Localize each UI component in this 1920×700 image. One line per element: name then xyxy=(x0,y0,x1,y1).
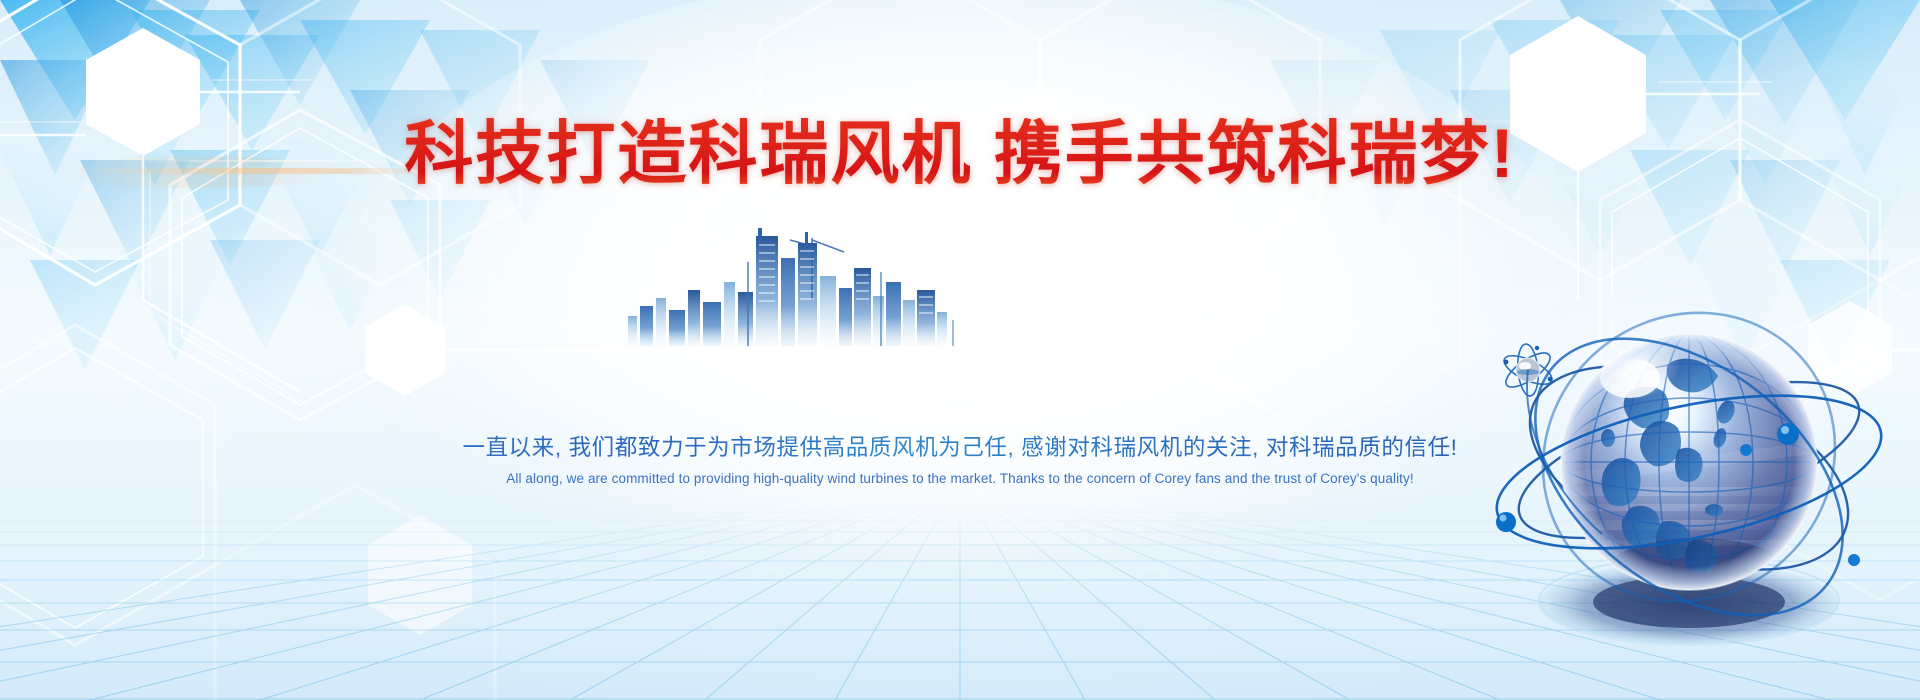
subtitle-en-container: All along, we are committed to providing… xyxy=(0,470,1920,488)
subtitle-english: All along, we are committed to providing… xyxy=(506,471,1413,486)
orbit-node xyxy=(1848,554,1860,566)
orbit-node xyxy=(1496,512,1516,532)
subtitle-cn-container: 一直以来, 我们都致力于为市场提供高品质风机为己任, 感谢对科瑞风机的关注, 对… xyxy=(0,430,1920,462)
subtitle-chinese: 一直以来, 我们都致力于为市场提供高品质风机为己任, 感谢对科瑞风机的关注, 对… xyxy=(462,430,1457,462)
page-title-container: 科技打造科瑞风机 携手共筑科瑞梦! xyxy=(0,118,1920,190)
page-title: 科技打造科瑞风机 携手共筑科瑞梦! xyxy=(404,118,1515,190)
promo-banner: .hexline{fill:none;stroke:#ffffff;stroke… xyxy=(0,0,1920,700)
globe-rim-light xyxy=(1561,334,1817,590)
